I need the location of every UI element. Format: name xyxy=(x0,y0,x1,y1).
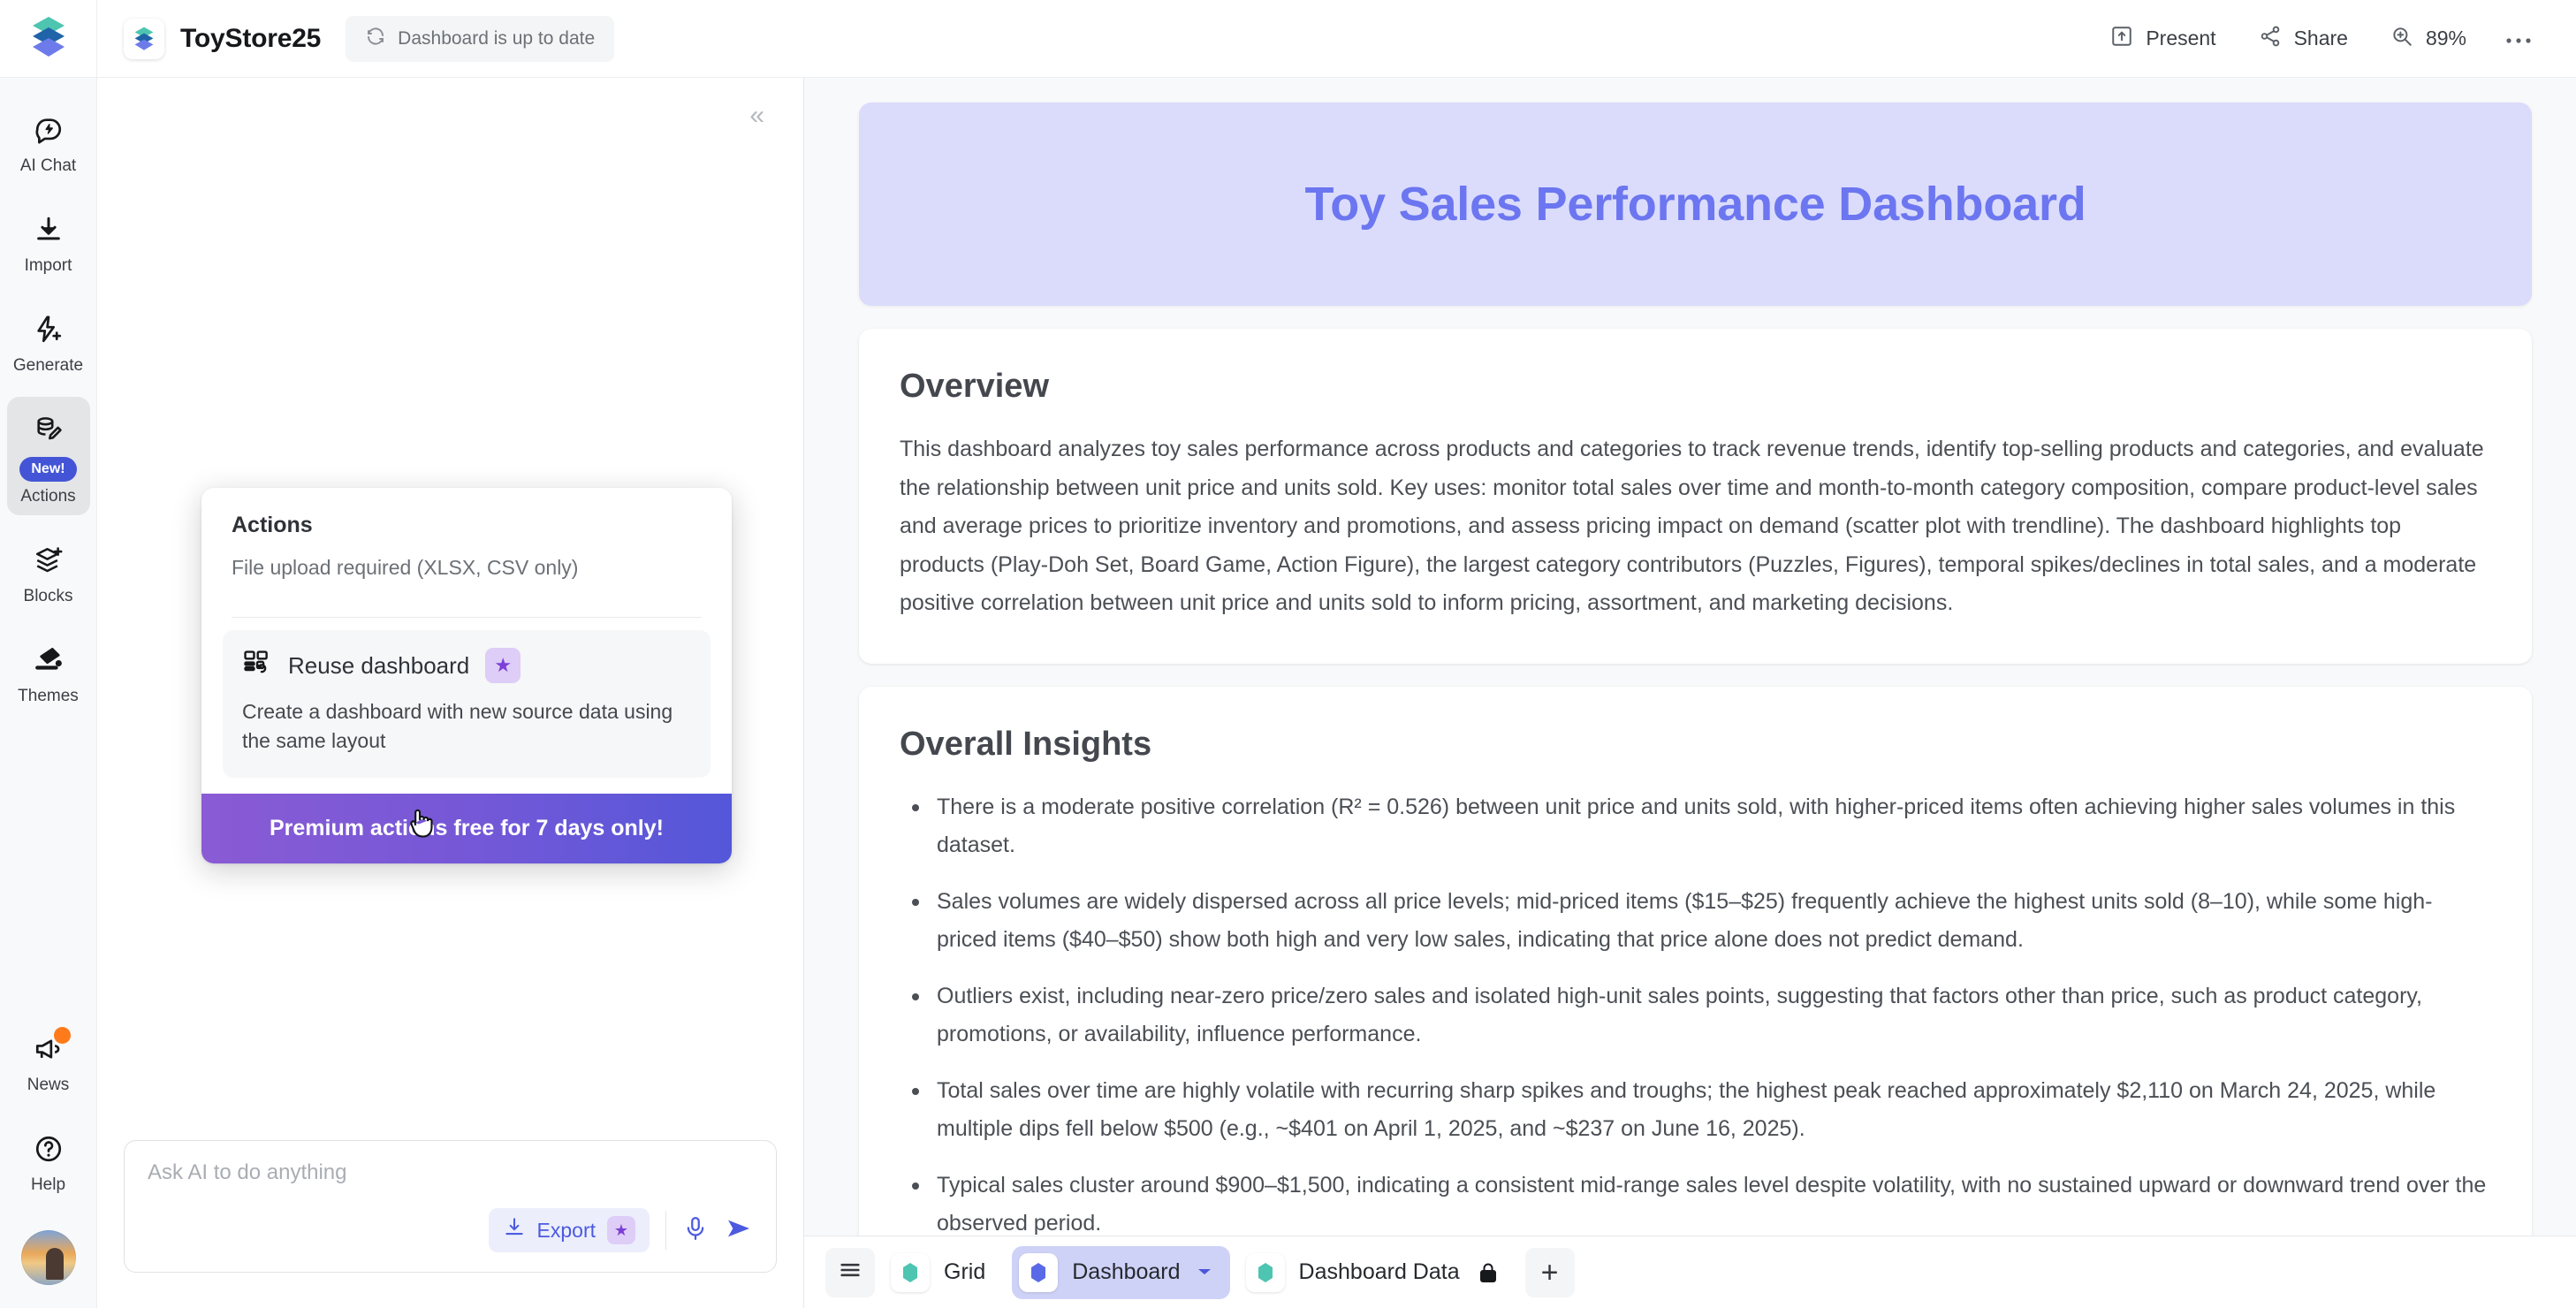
blocks-icon xyxy=(34,541,64,580)
list-item: Outliers exist, including near-zero pric… xyxy=(900,977,2491,1054)
premium-star-badge: ★ xyxy=(485,648,521,683)
document-logo-icon xyxy=(124,19,164,59)
overview-section: Overview This dashboard analyzes toy sal… xyxy=(859,329,2532,664)
ai-chat-icon xyxy=(34,110,64,149)
more-options-button[interactable] xyxy=(2491,18,2546,59)
sidebar-label-ai-chat: AI Chat xyxy=(20,157,76,174)
present-button[interactable]: Present xyxy=(2093,16,2233,62)
share-button[interactable]: Share xyxy=(2241,16,2366,62)
sidebar-item-news[interactable]: News xyxy=(7,1016,90,1104)
reuse-dashboard-card-header: Reuse dashboard ★ xyxy=(242,648,691,683)
sidebar-label-themes: Themes xyxy=(18,688,79,704)
sidebar-label-news: News xyxy=(27,1076,70,1093)
share-icon xyxy=(2259,25,2282,53)
export-button[interactable]: Export ★ xyxy=(489,1208,650,1252)
dashboard-sheet-icon xyxy=(1019,1253,1058,1292)
chevron-down-icon[interactable] xyxy=(1197,1264,1212,1281)
ai-composer-tools: Export ★ xyxy=(148,1208,753,1252)
hamburger-menu-icon xyxy=(838,1258,862,1287)
document-chip[interactable]: ToyStore25 xyxy=(124,19,321,59)
list-item: There is a moderate positive correlation… xyxy=(900,788,2491,865)
sidebar-item-help[interactable]: Help xyxy=(7,1116,90,1204)
star-icon: ★ xyxy=(614,1222,628,1238)
left-panel: « Actions File upload required (XLSX, CS… xyxy=(97,78,804,1308)
share-label: Share xyxy=(2294,27,2348,50)
generate-icon xyxy=(34,310,64,349)
sidebar-item-actions[interactable]: New! Actions xyxy=(7,397,90,515)
top-bar-rail-logo-slot xyxy=(0,0,97,77)
actions-popover: Actions File upload required (XLSX, CSV … xyxy=(201,488,732,863)
top-bar-content: ToyStore25 Dashboard is up to date xyxy=(97,0,2576,77)
dashboard-title-banner: Toy Sales Performance Dashboard xyxy=(859,103,2532,306)
sidebar-item-generate[interactable]: Generate xyxy=(7,297,90,384)
reuse-dashboard-icon xyxy=(242,649,272,683)
sidebar-label-import: Import xyxy=(25,257,72,274)
dashboard-canvas: Toy Sales Performance Dashboard Overview… xyxy=(804,78,2576,1236)
actions-popover-header: Actions File upload required (XLSX, CSV … xyxy=(201,488,732,617)
ai-composer-box[interactable]: Ask AI to do anything Export ★ xyxy=(124,1140,777,1273)
actions-icon xyxy=(34,410,64,449)
dashboard-title: Toy Sales Performance Dashboard xyxy=(859,177,2532,232)
dashboard-data-sheet-icon xyxy=(1246,1253,1285,1292)
microphone-button[interactable] xyxy=(682,1215,709,1246)
sidebar-item-ai-chat[interactable]: AI Chat xyxy=(7,97,90,185)
reuse-dashboard-card[interactable]: Reuse dashboard ★ Create a dashboard wit… xyxy=(223,630,710,778)
send-button[interactable] xyxy=(725,1214,753,1247)
insights-list: There is a moderate positive correlation… xyxy=(900,788,2491,1236)
reuse-dashboard-description: Create a dashboard with new source data … xyxy=(242,697,684,755)
present-label: Present xyxy=(2146,27,2215,50)
sidebar-badge-new: New! xyxy=(19,457,76,482)
insights-card: Overall Insights There is a moderate pos… xyxy=(859,687,2532,1236)
sync-icon xyxy=(365,26,386,52)
export-icon xyxy=(503,1216,526,1244)
overview-heading: Overview xyxy=(900,368,2491,406)
premium-promo-banner[interactable]: Premium actions free for 7 days only! xyxy=(201,794,732,863)
top-bar-actions: Present Share xyxy=(2093,16,2546,62)
overview-paragraph: This dashboard analyzes toy sales perfor… xyxy=(900,430,2491,623)
sidebar-label-actions: Actions xyxy=(20,488,75,505)
list-item: Total sales over time are highly volatil… xyxy=(900,1072,2491,1149)
sheet-tab-label: Dashboard Data xyxy=(1299,1259,1460,1285)
sheet-tab-label: Dashboard xyxy=(1072,1259,1180,1285)
main-area: Toy Sales Performance Dashboard Overview… xyxy=(804,78,2576,1308)
left-panel-body: Actions File upload required (XLSX, CSV … xyxy=(97,134,803,1140)
sidebar-item-themes[interactable]: Themes xyxy=(7,627,90,715)
collapse-panel-button[interactable]: « xyxy=(742,97,771,134)
app-logo-icon[interactable] xyxy=(32,16,65,63)
body-row: AI Chat Import Generate xyxy=(0,78,2576,1308)
sheet-tab-bar: Grid Dashboard Dashboard Data xyxy=(804,1236,2576,1308)
left-rail: AI Chat Import Generate xyxy=(0,78,97,1308)
more-dots-icon xyxy=(2505,27,2532,50)
ai-composer: Ask AI to do anything Export ★ xyxy=(97,1140,803,1308)
sidebar-item-blocks[interactable]: Blocks xyxy=(7,528,90,615)
actions-popover-title: Actions xyxy=(232,513,702,538)
star-icon: ★ xyxy=(494,656,512,675)
insights-heading: Overall Insights xyxy=(900,726,2491,764)
lock-icon xyxy=(1478,1261,1499,1284)
zoom-in-icon xyxy=(2390,25,2413,53)
export-label: Export xyxy=(537,1219,596,1243)
themes-icon xyxy=(34,641,64,680)
sidebar-label-generate: Generate xyxy=(13,357,83,374)
insights-section: Overall Insights There is a moderate pos… xyxy=(859,687,2532,1236)
list-item: Sales volumes are widely dispersed acros… xyxy=(900,883,2491,960)
user-avatar[interactable] xyxy=(21,1230,76,1285)
export-premium-badge: ★ xyxy=(607,1216,635,1244)
sheet-tab-label: Grid xyxy=(944,1259,985,1285)
add-sheet-button[interactable]: + xyxy=(1525,1248,1575,1297)
sidebar-item-import[interactable]: Import xyxy=(7,197,90,285)
sheet-tab-dashboard[interactable]: Dashboard xyxy=(1012,1246,1229,1299)
app-root: ToyStore25 Dashboard is up to date xyxy=(0,0,2576,1308)
help-question-icon xyxy=(34,1129,64,1168)
import-icon xyxy=(34,210,64,249)
sheet-tab-dashboard-data[interactable]: Dashboard Data xyxy=(1239,1246,1516,1299)
document-title: ToyStore25 xyxy=(180,24,321,54)
microphone-icon xyxy=(682,1215,709,1246)
reuse-dashboard-title: Reuse dashboard xyxy=(288,652,469,680)
news-unread-dot xyxy=(54,1027,71,1044)
ai-prompt-input[interactable]: Ask AI to do anything xyxy=(148,1160,753,1185)
send-icon xyxy=(725,1214,753,1247)
composer-separator xyxy=(665,1211,666,1250)
top-bar: ToyStore25 Dashboard is up to date xyxy=(0,0,2576,78)
sheet-menu-button[interactable] xyxy=(825,1248,875,1297)
sync-status-text: Dashboard is up to date xyxy=(398,28,595,49)
actions-popover-subtitle: File upload required (XLSX, CSV only) xyxy=(232,556,702,601)
list-item: Typical sales cluster around $900–$1,500… xyxy=(900,1167,2491,1236)
sidebar-label-blocks: Blocks xyxy=(24,588,73,605)
grid-sheet-icon xyxy=(891,1253,930,1292)
overview-card: Overview This dashboard analyzes toy sal… xyxy=(859,329,2532,664)
present-icon xyxy=(2110,25,2133,53)
actions-popover-divider xyxy=(232,617,702,618)
zoom-control[interactable]: 89% xyxy=(2373,16,2484,62)
sidebar-label-help: Help xyxy=(31,1176,65,1193)
zoom-level-label: 89% xyxy=(2426,27,2466,50)
sheet-tab-grid[interactable]: Grid xyxy=(884,1246,1003,1299)
sync-status-chip[interactable]: Dashboard is up to date xyxy=(346,16,614,62)
